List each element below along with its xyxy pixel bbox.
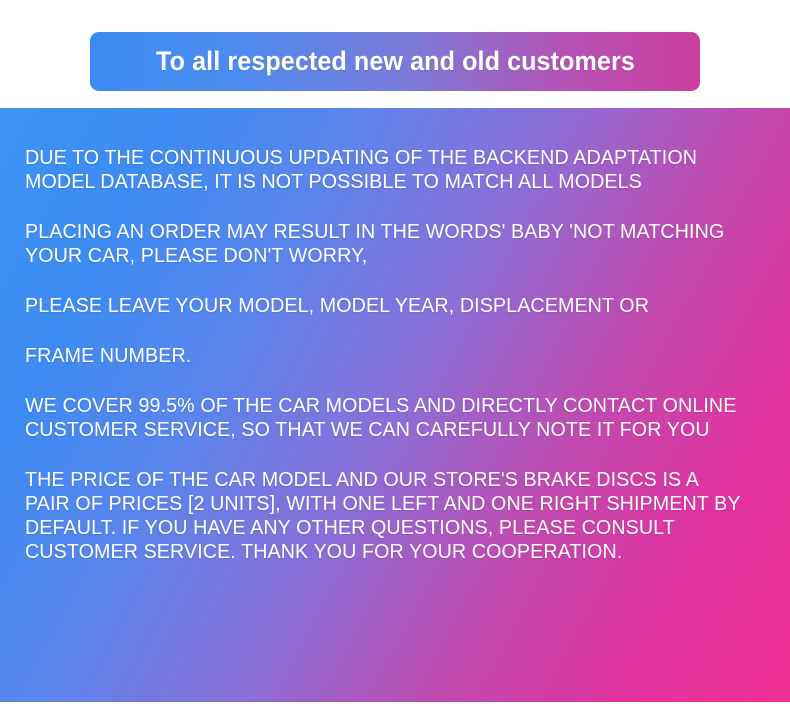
paragraph-adaptation-database: DUE TO THE CONTINUOUS UPDATING OF THE BA… [25, 146, 746, 194]
paragraph-leave-model-details: PLEASE LEAVE YOUR MODEL, MODEL YEAR, DIS… [25, 294, 746, 318]
header-title: To all respected new and old customers [156, 48, 635, 75]
header-banner-pill: To all respected new and old customers [90, 32, 700, 91]
paragraph-order-mismatch-notice: PLACING AN ORDER MAY RESULT IN THE WORDS… [25, 220, 746, 268]
header-zone: To all respected new and old customers [0, 0, 790, 108]
announcement-poster: To all respected new and old customers D… [0, 0, 790, 714]
body-text-container: DUE TO THE CONTINUOUS UPDATING OF THE BA… [25, 146, 776, 564]
paragraph-pricing-pair-policy: THE PRICE OF THE CAR MODEL AND OUR STORE… [25, 468, 746, 564]
paragraph-frame-number: FRAME NUMBER. [25, 344, 746, 368]
paragraph-coverage-rate: WE COVER 99.5% OF THE CAR MODELS AND DIR… [25, 394, 746, 442]
gradient-body: DUE TO THE CONTINUOUS UPDATING OF THE BA… [0, 108, 790, 702]
